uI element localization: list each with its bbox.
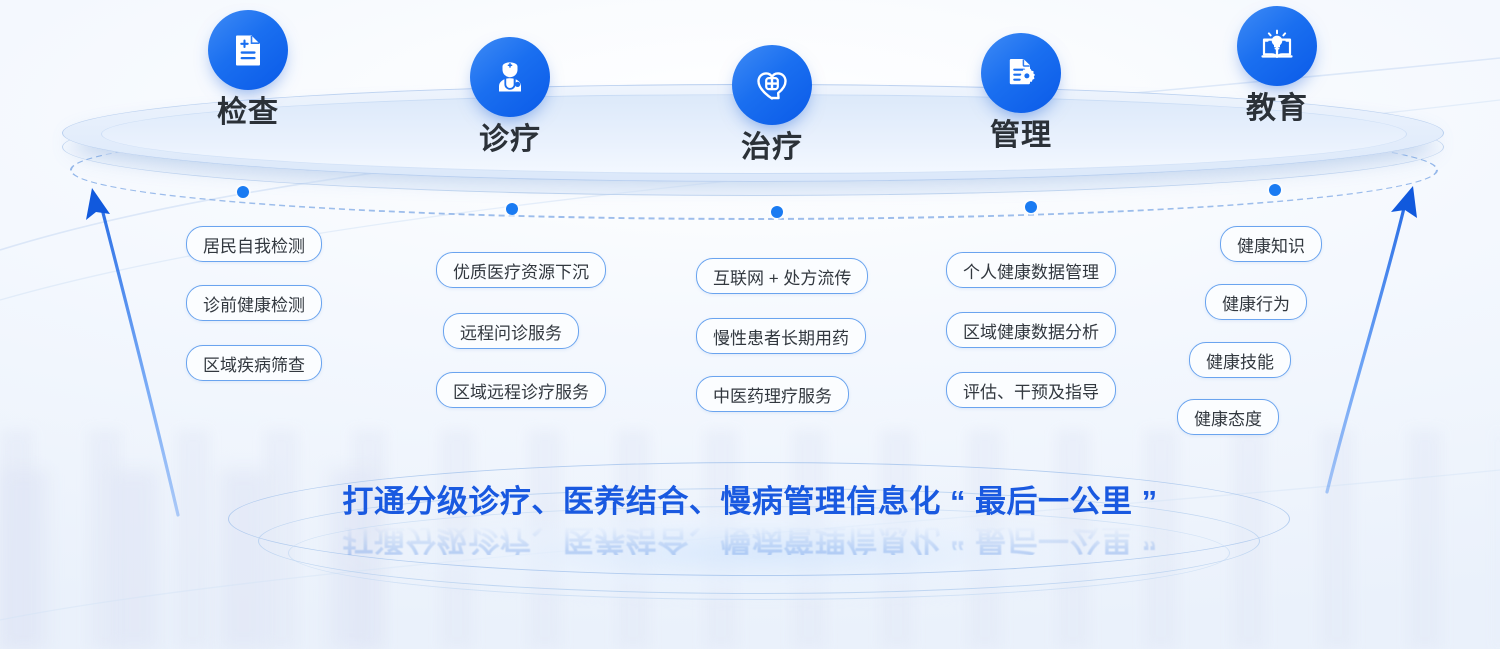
pill-item[interactable]: 诊前健康检测 [186,285,322,321]
doctor-icon [470,37,550,117]
category-label: 管理 [990,121,1052,151]
connector-dot [1269,184,1281,196]
pill-item[interactable]: 远程问诊服务 [443,313,579,349]
category-label: 诊疗 [479,125,541,155]
connector-dot [1025,201,1037,213]
banner-text: 打通分级诊疗、医养结合、慢病管理信息化 “ 最后一公里 ” [342,486,1157,517]
category-label: 教育 [1246,94,1308,124]
pill-item[interactable]: 区域健康数据分析 [946,312,1116,348]
connector-dot [771,206,783,218]
pill-item[interactable]: 中医药理疗服务 [696,376,849,412]
infographic-canvas: 检查 诊疗 治疗 [0,0,1500,649]
category-node-诊疗[interactable]: 诊疗 [470,37,550,155]
category-node-检查[interactable]: 检查 [208,10,288,128]
pill-item[interactable]: 评估、干预及指导 [946,372,1116,408]
pill-item[interactable]: 互联网 + 处方流传 [696,258,868,294]
category-node-治疗[interactable]: 治疗 [732,45,812,163]
pill-item[interactable]: 健康行为 [1205,284,1307,320]
document-gear-icon [981,33,1061,113]
connector-dot [237,186,249,198]
pill-item[interactable]: 居民自我检测 [186,226,322,262]
connector-dot [506,203,518,215]
heart-cross-icon [732,45,812,125]
pill-item[interactable]: 区域疾病筛查 [186,345,322,381]
pill-item[interactable]: 健康技能 [1189,342,1291,378]
pill-item[interactable]: 优质医疗资源下沉 [436,252,606,288]
medical-report-icon [208,10,288,90]
pill-item[interactable]: 个人健康数据管理 [946,252,1116,288]
category-label: 检查 [217,98,279,128]
category-node-教育[interactable]: 教育 [1237,6,1317,124]
pill-item[interactable]: 慢性患者长期用药 [696,318,866,354]
pill-item[interactable]: 健康知识 [1220,226,1322,262]
book-lightbulb-icon [1237,6,1317,86]
platform-ellipse-inner [288,506,1230,600]
category-node-管理[interactable]: 管理 [981,33,1061,151]
pill-item[interactable]: 健康态度 [1177,399,1279,435]
category-label: 治疗 [741,133,803,163]
pill-item[interactable]: 区域远程诊疗服务 [436,372,606,408]
banner: 打通分级诊疗、医养结合、慢病管理信息化 “ 最后一公里 ” [0,486,1500,517]
